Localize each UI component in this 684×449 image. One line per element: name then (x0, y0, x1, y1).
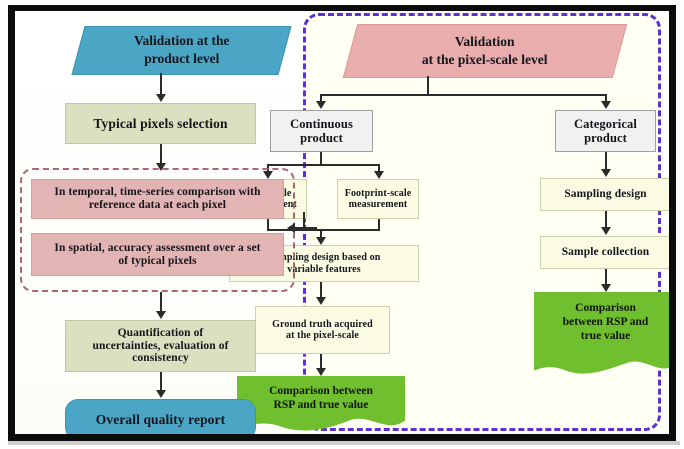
arrowhead-to-sampling-design-variable (316, 237, 326, 245)
product-header-line2: product level (144, 52, 219, 67)
arrowhead-to-overall-report (156, 390, 166, 398)
categorical-title-line1: Categorical (574, 117, 637, 131)
node-spatial-accuracy-assessment: In spatial, accuracy assessment over a s… (31, 233, 284, 276)
diagram-area: Validation at the pixel-scale level Cont… (15, 11, 669, 434)
quantification-line2: uncertainties, evaluation of (93, 340, 229, 352)
footprint-scale-line1: Footprint-scale (345, 188, 412, 199)
node-overall-quality-report: Overall quality report (65, 399, 256, 434)
pixel-scale-validation-header: Validation at the pixel-scale level (343, 24, 627, 78)
continuous-title-line2: product (300, 131, 343, 145)
quantification-line1: Quantification of (118, 327, 204, 339)
pixel-header-line1: Validation (455, 34, 515, 49)
arrowhead-to-comparison-categorical (601, 284, 611, 292)
node-sampling-design: Sampling design (540, 178, 669, 211)
node-footprint-scale-measurement: Footprint-scale measurement (337, 179, 419, 219)
typical-pixels-label: Typical pixels selection (93, 116, 227, 131)
overall-report-label: Overall quality report (96, 412, 225, 427)
arrowhead-to-sampling-design (601, 169, 611, 177)
arrowhead-to-ground-truth (316, 297, 326, 305)
pixel-header-line2: at the pixel-scale level (422, 52, 548, 67)
arrowhead-to-typical-pixels (156, 94, 166, 102)
footprint-scale-line2: measurement (349, 199, 408, 210)
product-level-validation-header: Validation at the product level (71, 26, 291, 75)
node-typical-pixels-selection: Typical pixels selection (65, 103, 256, 144)
frame-border-left (8, 5, 15, 441)
spatial-line2: of typical pixels (118, 255, 196, 267)
frame-border-bottom (8, 434, 676, 441)
arrowhead-to-categorical (601, 101, 611, 109)
comparison-continuous-line1: Comparison between (269, 385, 373, 397)
comparison-categorical-line2: between RSP and (563, 316, 649, 328)
ground-truth-line1: Ground truth acquired (272, 319, 373, 330)
comparison-categorical-line1: Comparison (575, 302, 636, 314)
temporal-line1: In temporal, time-series comparison with (54, 186, 260, 198)
figure-canvas: Validation at the pixel-scale level Cont… (0, 0, 684, 449)
connector-crosspanel-horizontal (295, 227, 317, 229)
connector-pixel-split-bar (320, 94, 606, 96)
node-quantification-uncertainties: Quantification of uncertainties, evaluat… (65, 320, 256, 372)
arrowhead-to-quantification (156, 311, 166, 319)
continuous-title-line1: Continuous (290, 117, 353, 131)
node-comparison-rsp-true-value-continuous: Comparison between RSP and true value (237, 376, 405, 434)
product-header-line1: Validation at the (134, 33, 230, 48)
node-comparison-rsp-true-value-categorical: Comparison between RSP and true value (534, 292, 669, 378)
connector-pixel-header-stem (427, 76, 429, 95)
comparison-categorical-line3: true value (581, 330, 631, 342)
sampling-design-var-line2: variable features (287, 264, 360, 275)
arrowhead-to-sample-collection (601, 227, 611, 235)
temporal-line2: reference data at each pixel (89, 199, 226, 211)
ground-truth-line2: at the pixel-scale (286, 330, 359, 341)
arrowhead-to-continuous (316, 101, 326, 109)
sample-collection-label: Sample collection (562, 246, 650, 259)
frame-border-right (669, 5, 676, 441)
connector-continuous-split-bar (267, 164, 379, 166)
comparison-continuous-line2: RSP and true value (274, 399, 369, 411)
arrowhead-crosspanel-left (287, 223, 295, 233)
node-categorical-product: Categorical product (555, 110, 656, 152)
node-continuous-product: Continuous product (270, 110, 373, 152)
connector-header-to-typical-pixels (160, 73, 162, 96)
sampling-design-label: Sampling design (564, 188, 646, 201)
categorical-title-line2: product (584, 131, 627, 145)
frame-shadow (8, 441, 680, 445)
arrowhead-to-comparison-continuous (316, 368, 326, 376)
spatial-line1: In spatial, accuracy assessment over a s… (54, 242, 260, 254)
node-sample-collection: Sample collection (540, 236, 669, 269)
quantification-line3: consistency (132, 352, 189, 364)
node-ground-truth-acquired: Ground truth acquired at the pixel-scale (255, 306, 390, 354)
node-temporal-comparison: In temporal, time-series comparison with… (31, 179, 284, 219)
arrowhead-to-footprint-scale (374, 171, 384, 179)
